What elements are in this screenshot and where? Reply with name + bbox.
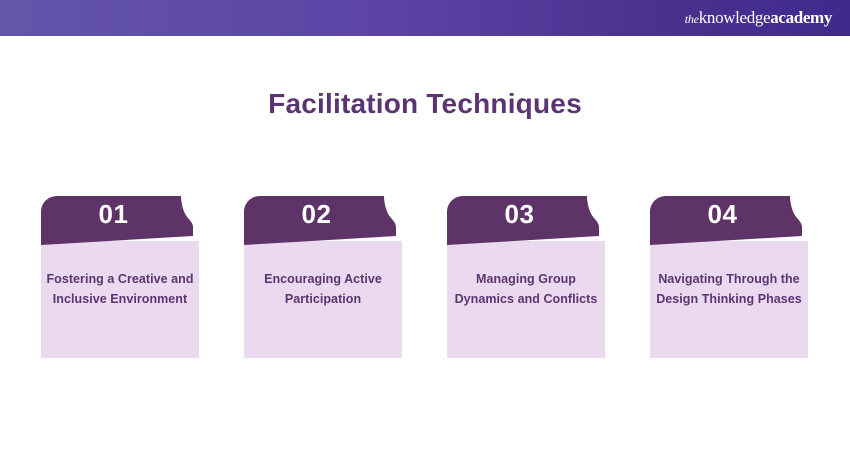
card-label: Navigating Through the Design Thinking P… [654,270,804,309]
the-knowledge-academy-logo: theknowledgeacademy [685,9,832,27]
card-label: Fostering a Creative and Inclusive Envir… [45,270,195,309]
technique-card-row: 01 Fostering a Creative and Inclusive En… [41,196,809,358]
logo-word-the: the [685,12,699,26]
technique-card: 01 Fostering a Creative and Inclusive En… [41,196,199,358]
logo-word-knowledge: knowledge [699,8,770,27]
card-number: 01 [41,200,186,230]
card-number: 03 [447,200,592,230]
page-title: Facilitation Techniques [0,88,850,120]
technique-card: 04 Navigating Through the Design Thinkin… [650,196,808,358]
card-number: 02 [244,200,389,230]
card-number: 04 [650,200,795,230]
brand-header-bar: theknowledgeacademy [0,0,850,36]
infographic-page: theknowledgeacademy Facilitation Techniq… [0,0,850,450]
logo-word-academy: academy [770,8,832,27]
technique-card: 02 Encouraging Active Participation [244,196,402,358]
card-label: Managing Group Dynamics and Conflicts [451,270,601,309]
technique-card: 03 Managing Group Dynamics and Conflicts [447,196,605,358]
card-label: Encouraging Active Participation [248,270,398,309]
